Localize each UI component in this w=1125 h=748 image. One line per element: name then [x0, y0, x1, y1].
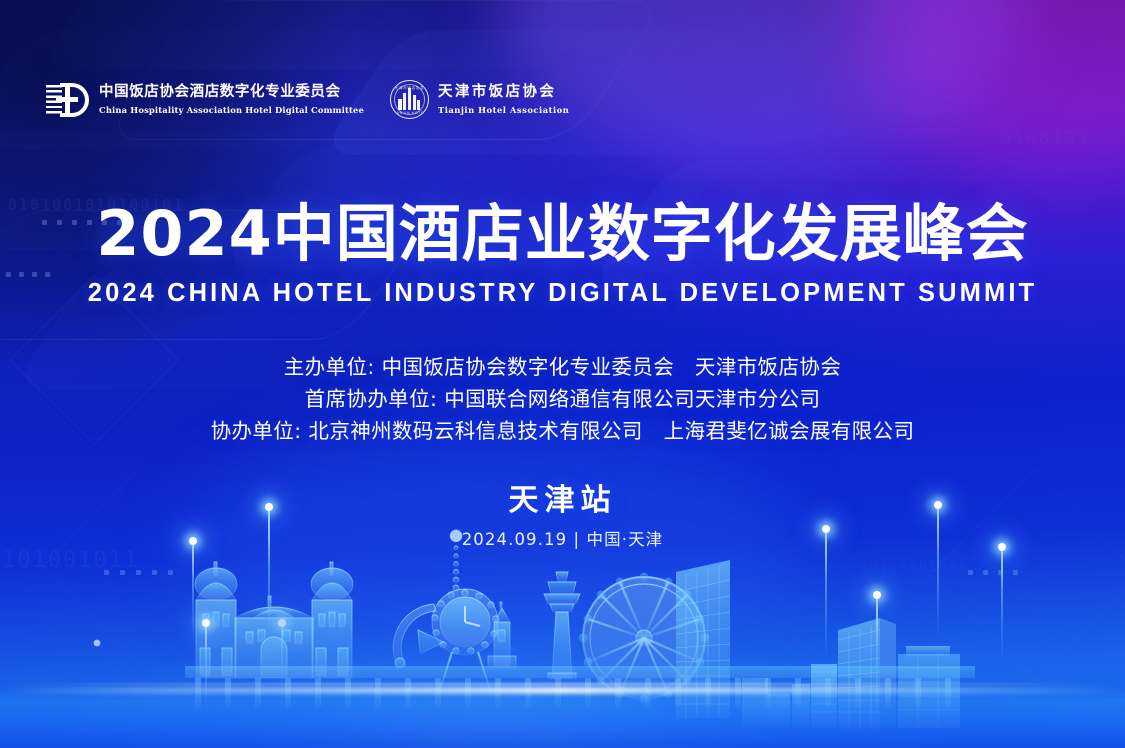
seal-bottom-text: TIANJIN HOTEL	[392, 111, 426, 115]
logo-name-cn: 天津市饭店协会	[438, 84, 569, 101]
organizer-line: 首席协办单位: 中国联合网络通信有限公司天津市分公司	[0, 383, 1125, 415]
page-title-en: 2024 CHINA HOTEL INDUSTRY DIGITAL DEVELO…	[0, 281, 1125, 307]
watermark-digits: 0100101	[1000, 128, 1090, 149]
header-logo-group: 中国饭店协会酒店数字化专业委员会 China Hospitality Assoc…	[46, 80, 569, 119]
organizer-line: 主办单位: 中国饭店协会数字化专业委员会 天津市饭店协会	[0, 351, 1125, 383]
tianjin-hotel-association-seal-icon: 天津市饭店协会 TIANJIN HOTEL	[390, 80, 429, 119]
cha-hotel-digital-committee-logo-icon	[46, 81, 90, 119]
logo-name-en: Tianjin Hotel Association	[438, 105, 569, 115]
logo-tianjin-hotel-association[interactable]: 天津市饭店协会 TIANJIN HOTEL 天津市饭店协会 Tianjin Ho…	[390, 80, 569, 119]
logo-name-en: China Hospitality Association Hotel Digi…	[99, 105, 364, 115]
poster-canvas: 0101001010100101 101001011 0100101 10100…	[0, 0, 1125, 748]
logo-china-hospitality-association[interactable]: 中国饭店协会酒店数字化专业委员会 China Hospitality Assoc…	[46, 81, 364, 119]
seal-building-glyph	[399, 88, 421, 110]
decor-dot-row	[6, 272, 50, 277]
horizon-line-secondary	[0, 683, 1125, 685]
event-city-stop: 天津站	[0, 484, 1125, 517]
organizer-block: 主办单位: 中国饭店协会数字化专业委员会 天津市饭店协会 首席协办单位: 中国联…	[0, 351, 1125, 447]
page-title-cn: 2024中国酒店业数字化发展峰会	[0, 203, 1125, 265]
organizer-line: 协办单位: 北京神州数码云科信息技术有限公司 上海君斐亿诚会展有限公司	[0, 415, 1125, 447]
ground-gradient	[0, 688, 1125, 748]
logo-name-cn: 中国饭店协会酒店数字化专业委员会	[99, 84, 364, 101]
